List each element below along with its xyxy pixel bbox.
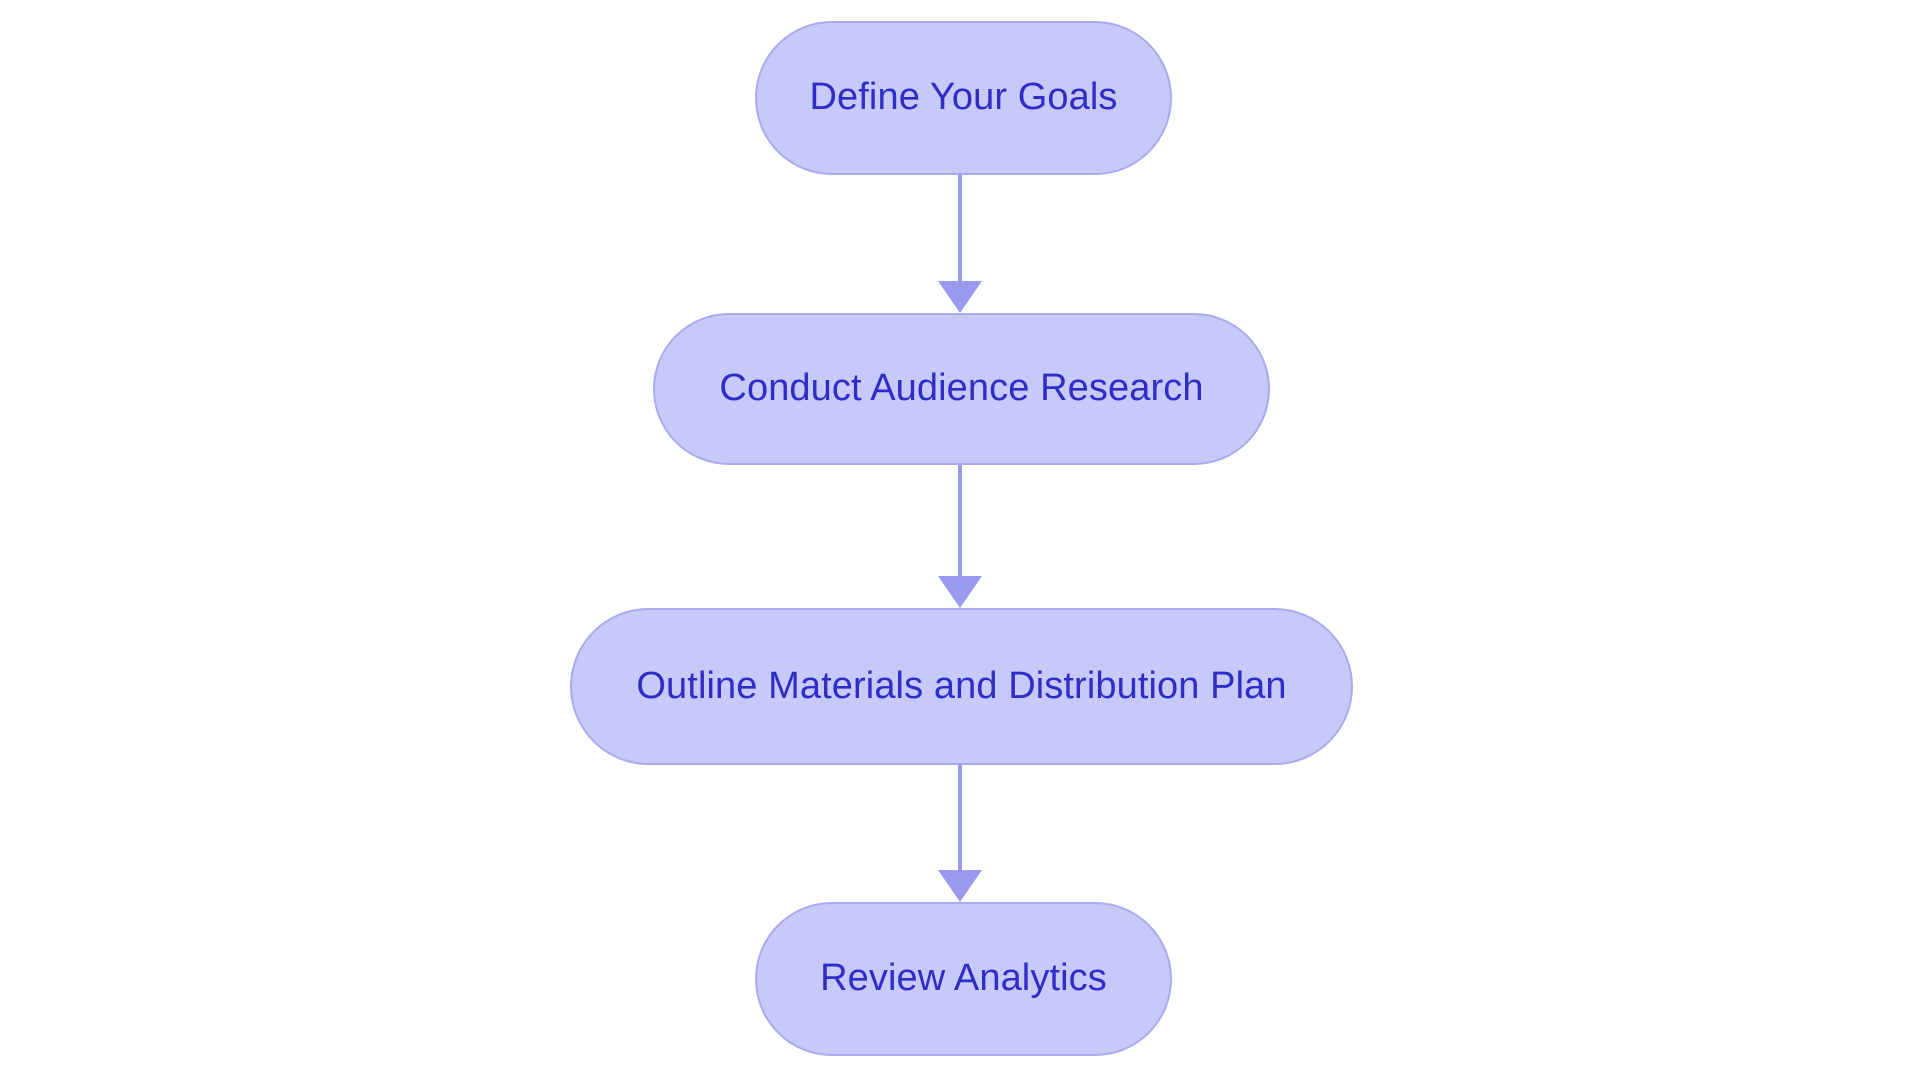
- flow-node-define-your-goals[interactable]: Define Your Goals: [755, 21, 1172, 175]
- flow-node-review-analytics[interactable]: Review Analytics: [755, 902, 1172, 1056]
- flow-node-conduct-audience-research[interactable]: Conduct Audience Research: [653, 313, 1270, 465]
- flowchart-canvas: Define Your Goals Conduct Audience Resea…: [0, 0, 1920, 1083]
- flow-node-label: Define Your Goals: [809, 76, 1117, 120]
- flow-node-label: Conduct Audience Research: [719, 367, 1203, 411]
- flow-node-label: Outline Materials and Distribution Plan: [636, 665, 1286, 709]
- flow-node-label: Review Analytics: [820, 957, 1107, 1001]
- flow-node-outline-materials-and-distribution-plan[interactable]: Outline Materials and Distribution Plan: [570, 608, 1353, 765]
- nodes-layer: Define Your Goals Conduct Audience Resea…: [0, 0, 1920, 1083]
